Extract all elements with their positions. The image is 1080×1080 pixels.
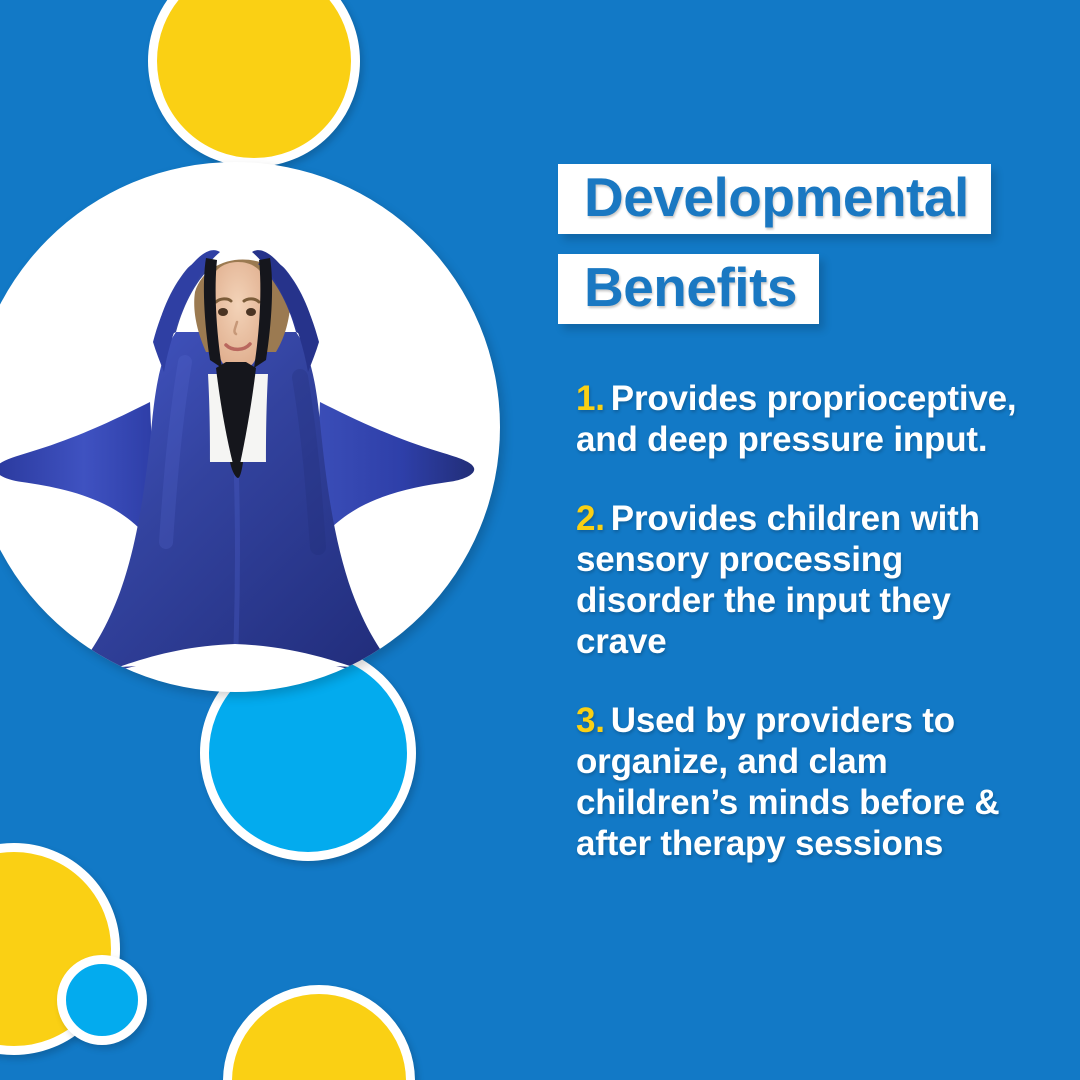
- benefit-item-1: 1.Provides proprioceptive, and deep pres…: [576, 378, 1046, 460]
- benefit-2-text: Provides children with sensory processin…: [576, 499, 980, 661]
- sock-center-fold-highlight: [236, 462, 238, 644]
- product-image-circle: [0, 162, 500, 692]
- heading-line2: Benefits: [584, 258, 797, 316]
- heading-line1: Developmental: [584, 168, 969, 226]
- benefit-3-number: 3.: [576, 701, 605, 740]
- benefit-3-text: Used by providers to organize, and clam …: [576, 701, 1000, 863]
- decorative-circle-top-yellow: [148, 0, 360, 167]
- heading-banner-line1: Developmental: [558, 164, 991, 234]
- benefit-item-3: 3.Used by providers to organize, and cla…: [576, 700, 1046, 864]
- benefit-2-body: 2.Provides children with sensory process…: [576, 498, 1046, 662]
- sock-right-wing: [314, 402, 474, 548]
- sensory-body-sock-illustration: [0, 162, 500, 692]
- benefit-3-body: 3.Used by providers to organize, and cla…: [576, 700, 1046, 864]
- benefit-item-2: 2.Provides children with sensory process…: [576, 498, 1046, 662]
- benefit-1-number: 1.: [576, 379, 605, 418]
- heading-banner-line2: Benefits: [558, 254, 819, 324]
- benefit-1-body: 1.Provides proprioceptive, and deep pres…: [576, 378, 1046, 460]
- content-column: Developmental Benefits 1.Provides propri…: [558, 0, 1058, 1080]
- decorative-circle-bottom-left-cyan: [57, 955, 147, 1045]
- benefits-list: 1.Provides proprioceptive, and deep pres…: [576, 378, 1046, 902]
- benefit-2-number: 2.: [576, 499, 605, 538]
- child-eye-left: [218, 308, 228, 316]
- promo-poster: Developmental Benefits 1.Provides propri…: [0, 0, 1080, 1080]
- sock-left-wing: [0, 402, 156, 548]
- child-eye-right: [246, 308, 256, 316]
- decorative-circle-bottom-center-yellow: [223, 985, 415, 1080]
- benefit-1-text: Provides proprioceptive, and deep pressu…: [576, 379, 1016, 459]
